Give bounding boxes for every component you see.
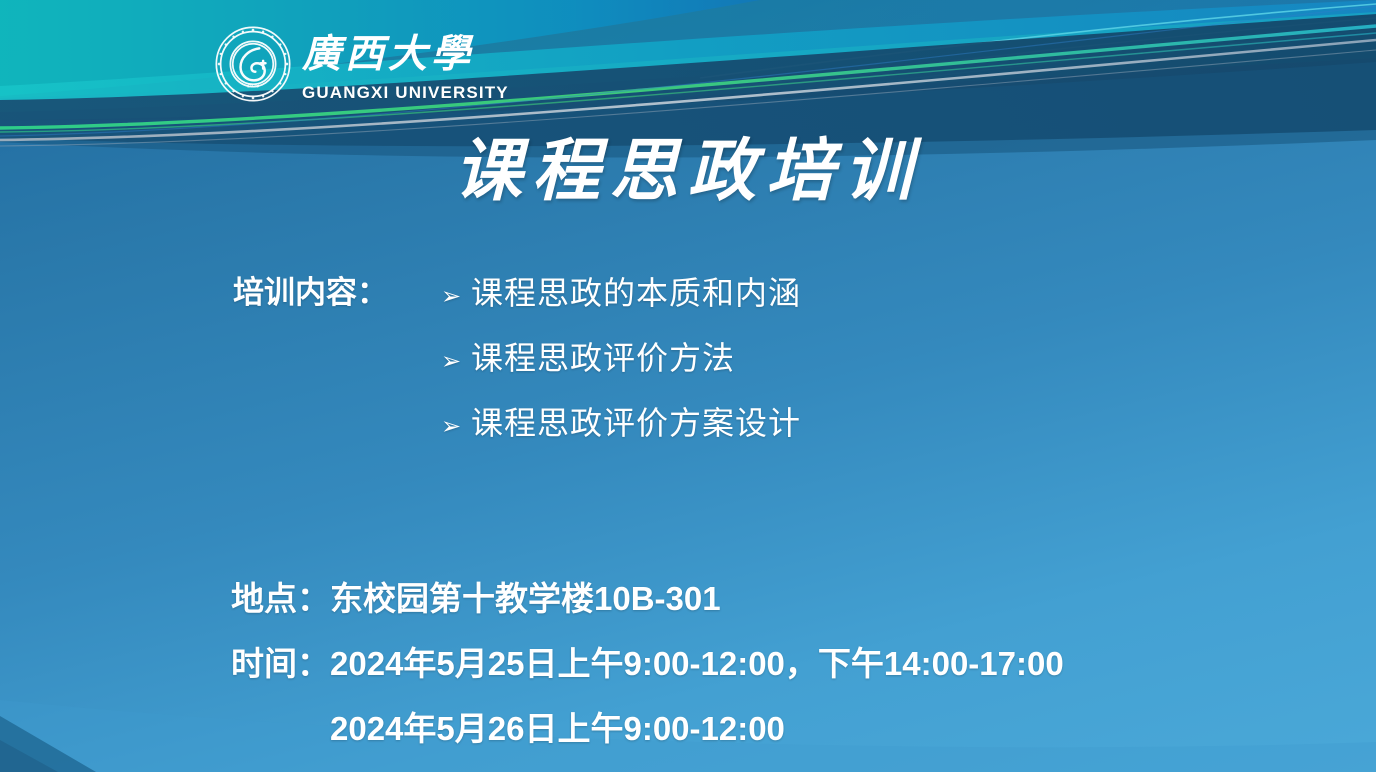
list-item-label: 课程思政的本质和内涵 [471,262,801,324]
time-value-line-2: 2024年5月26日上午9:00-12:00 [330,696,785,761]
bullet-arrow-icon: ➢ [441,265,471,327]
university-logo: 1928 廣西大學 GUANGXI UNIVERSITY [214,22,509,106]
training-content-label: 培训内容： [233,262,388,324]
list-item: ➢ 课程思政评价方法 [441,327,801,392]
training-content-block: 培训内容： ➢ 课程思政的本质和内涵 ➢ 课程思政评价方法 ➢ 课程思政评价方案… [233,262,801,457]
svg-text:廣西大學: 廣西大學 [302,33,474,76]
bullet-arrow-icon: ➢ [441,395,471,457]
page-title: 课程思政培训 [0,136,1376,207]
bullet-arrow-icon: ➢ [441,330,471,392]
training-content-list: ➢ 课程思政的本质和内涵 ➢ 课程思政评价方法 ➢ 课程思政评价方案设计 [441,262,801,457]
university-english-wordmark: GUANGXI UNIVERSITY [302,84,509,101]
university-chinese-wordmark: 廣西大學 [302,29,492,81]
list-item-label: 课程思政评价方案设计 [471,392,801,454]
time-row-2: 时间： 2024年5月26日上午9:00-12:00 [231,696,1064,761]
venue-row: 地点： 东校园第十教学楼10B-301 [231,566,1064,631]
list-item-label: 课程思政评价方法 [471,327,735,389]
list-item: ➢ 课程思政评价方案设计 [441,392,801,457]
list-item: ➢ 课程思政的本质和内涵 [441,262,801,327]
guangxi-university-seal-icon: 1928 [214,25,292,103]
venue-label: 地点： [231,566,330,631]
svg-text:1928: 1928 [247,83,259,89]
venue-value: 东校园第十教学楼10B-301 [330,566,721,631]
presentation-slide: 1928 廣西大學 GUANGXI UNIVERSITY 课程思政培训 培训内容… [0,0,1376,772]
time-value-line-1: 2024年5月25日上午9:00-12:00，下午14:00-17:00 [330,631,1064,696]
time-label: 时间： [231,631,330,696]
event-details: 地点： 东校园第十教学楼10B-301 时间： 2024年5月25日上午9:00… [231,566,1064,761]
time-row-1: 时间： 2024年5月25日上午9:00-12:00，下午14:00-17:00 [231,631,1064,696]
